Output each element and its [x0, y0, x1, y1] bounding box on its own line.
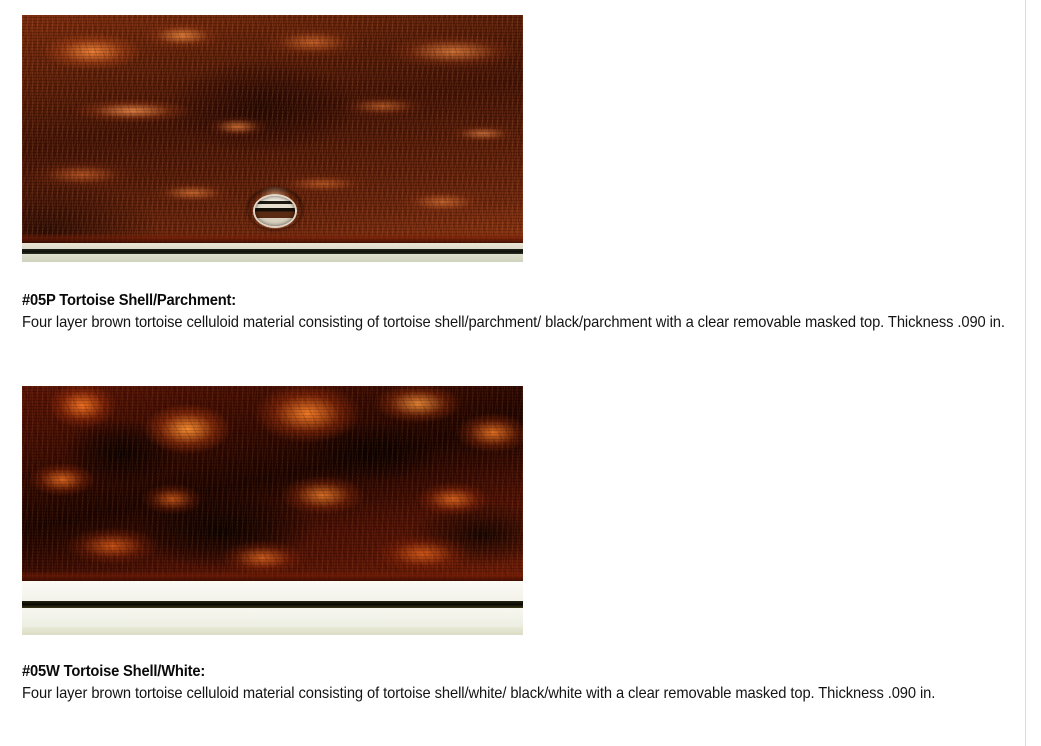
laminate-edge-stack-05w	[22, 581, 523, 635]
laminate-layer-black	[22, 601, 523, 608]
product-description-05p: Four layer brown tortoise celluloid mate…	[22, 312, 1020, 333]
sample-photo-05w[interactable]	[22, 386, 523, 635]
page-column-rule	[1025, 0, 1026, 746]
product-block-05p	[22, 15, 523, 262]
laminate-layer-white-bottom	[22, 627, 523, 635]
shell-grain-overlay	[22, 386, 523, 581]
laminate-layer-white-top	[22, 581, 523, 601]
screw-hole-layer-rings	[255, 196, 295, 225]
page-content: #05P Tortoise Shell/Parchment: Four laye…	[0, 0, 1025, 746]
product-title-05p: #05P Tortoise Shell/Parchment:	[22, 290, 919, 311]
product-description-05w: Four layer brown tortoise celluloid mate…	[22, 683, 1020, 704]
laminate-layer-white-middle	[22, 608, 523, 627]
product-caption-05p: #05P Tortoise Shell/Parchment: Four laye…	[22, 290, 997, 333]
laminate-edge-stack-05p	[22, 243, 523, 262]
countersunk-screw-hole-05p	[247, 187, 303, 229]
sample-photo-05p[interactable]	[22, 15, 523, 262]
tortoise-shell-surface-05w	[22, 386, 523, 581]
product-block-05w	[22, 386, 523, 635]
product-title-05w: #05W Tortoise Shell/White:	[22, 661, 919, 682]
laminate-layer-parchment-bottom	[22, 254, 523, 262]
product-caption-05w: #05W Tortoise Shell/White: Four layer br…	[22, 661, 997, 704]
